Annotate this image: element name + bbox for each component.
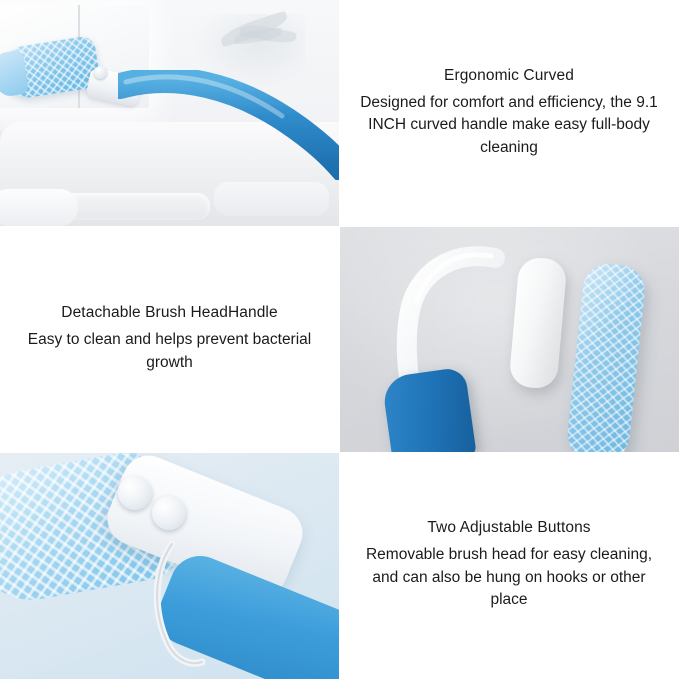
sofa-armrest <box>0 189 78 226</box>
caption-title-ergonomic: Ergonomic Curved <box>444 67 574 85</box>
caption-title-buttons: Two Adjustable Buttons <box>427 519 590 537</box>
blue-grip-section <box>381 367 477 452</box>
horizontal-divider-one <box>0 226 679 227</box>
vertical-divider <box>339 0 340 679</box>
panel-photo-curved-handle <box>0 0 339 226</box>
caption-body-detachable: Easy to clean and helps prevent bacteria… <box>20 329 320 374</box>
curved-handle-photo <box>0 0 339 226</box>
panel-caption-ergonomic: Ergonomic Curved Designed for comfort an… <box>339 0 679 226</box>
horizontal-divider-two <box>0 452 679 453</box>
caption-title-detachable: Detachable Brush HeadHandle <box>61 304 277 322</box>
blue-curved-handle <box>118 70 339 180</box>
adjust-button <box>94 66 107 79</box>
sofa-cushion <box>214 182 329 215</box>
adjust-button-two <box>152 496 186 530</box>
caption-body-ergonomic: Designed for comfort and efficiency, the… <box>359 92 659 159</box>
disassembled-parts-photo <box>339 226 679 452</box>
panel-photo-buttons <box>0 452 339 679</box>
product-feature-collage: Ergonomic Curved Designed for comfort an… <box>0 0 679 679</box>
hanging-cord <box>150 540 270 670</box>
panel-caption-detachable: Detachable Brush HeadHandle Easy to clea… <box>0 226 339 452</box>
adjust-button-one <box>118 476 152 510</box>
panel-caption-buttons: Two Adjustable Buttons Removable brush h… <box>339 452 679 679</box>
caption-body-buttons: Removable brush head for easy cleaning, … <box>359 544 659 611</box>
panel-photo-parts <box>339 226 679 452</box>
adjustable-buttons-photo <box>0 452 339 679</box>
